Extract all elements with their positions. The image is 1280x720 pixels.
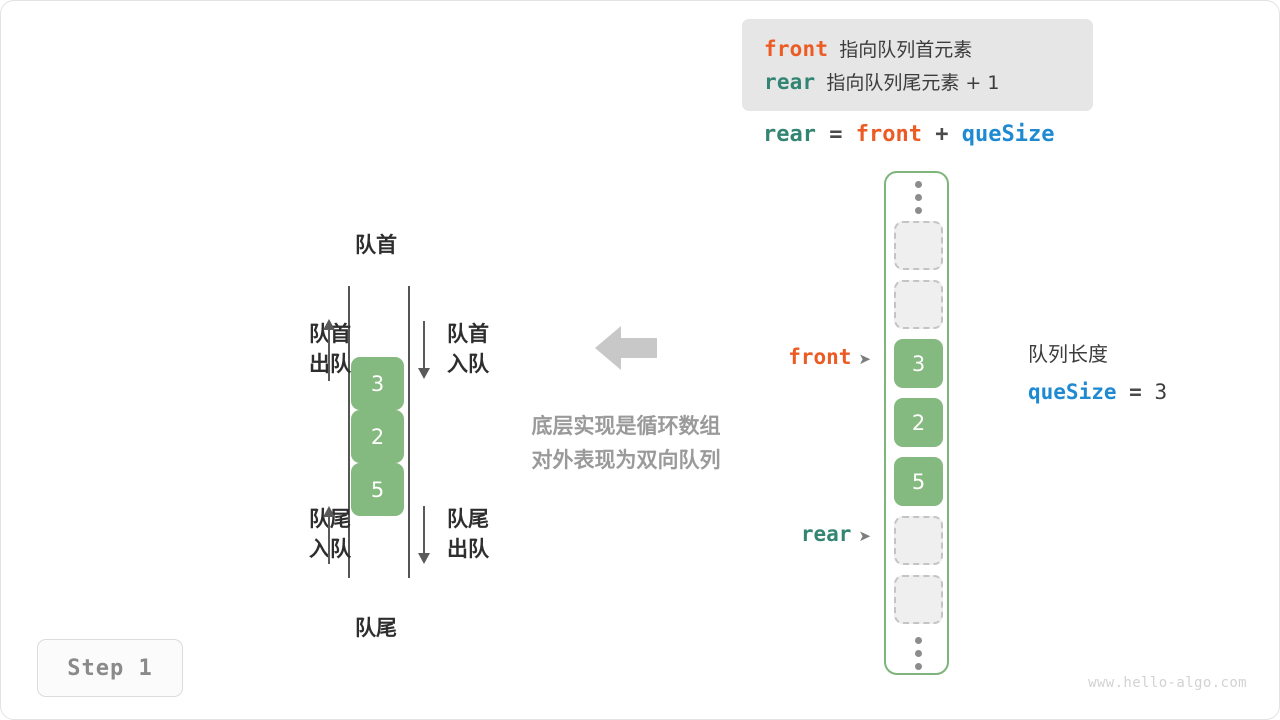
queue-size-note: 队列长度 queSize = 3 [1028, 339, 1167, 409]
pointer-legend-box: front指向队列首元素 rear指向队列尾元素 + 1 [742, 19, 1093, 111]
op-label-head-push: 队首 入队 [447, 319, 567, 379]
array-cell-empty-3 [894, 516, 943, 565]
deque-tail-label: 队尾 [301, 612, 451, 642]
quesize-variable: queSize [1028, 380, 1117, 404]
legend-text-rear: 指向队列尾元素 + 1 [826, 72, 999, 94]
legend-row-rear: rear指向队列尾元素 + 1 [764, 66, 1093, 99]
step-badge: Step 1 [37, 639, 183, 697]
op-label-head-push-line2: 入队 [447, 349, 567, 379]
arrow-head-push-icon [417, 321, 431, 379]
array-cell-middle: 2 [894, 398, 943, 447]
op-label-tail-pop-line2: 出队 [447, 534, 567, 564]
array-cell-front: 3 [894, 339, 943, 388]
rear-pointer-text: rear [801, 522, 852, 546]
formula-plus: + [935, 122, 948, 147]
transform-arrow-icon [595, 324, 657, 372]
rear-formula: rear = front + queSize [763, 119, 1054, 151]
array-ellipsis-bottom-icon [886, 629, 951, 677]
array-cell-empty-2 [894, 280, 943, 329]
array-cell-empty-1 [894, 221, 943, 270]
diagram-caption: 底层实现是循环数组 对外表现为双向队列 [481, 409, 771, 477]
op-label-tail-pop: 队尾 出队 [447, 504, 567, 564]
op-label-tail-pop-line1: 队尾 [447, 504, 567, 534]
deque-cell-head: 3 [351, 357, 404, 410]
deque-head-label: 队首 [301, 229, 451, 259]
deque-cell-tail: 5 [351, 463, 404, 516]
op-label-head-push-line1: 队首 [447, 319, 567, 349]
front-pointer-label: front➤ [661, 342, 871, 372]
front-pointer-arrow-icon: ➤ [858, 350, 871, 368]
step-badge-label: Step 1 [67, 656, 152, 681]
formula-equals: = [829, 122, 842, 147]
caption-line-2: 对外表现为双向队列 [481, 443, 771, 477]
diagram-canvas: front指向队列首元素 rear指向队列尾元素 + 1 rear = fron… [0, 0, 1280, 720]
formula-front-term: front [856, 122, 922, 147]
quesize-value: 3 [1154, 380, 1167, 404]
deque-rail-right [408, 286, 410, 578]
legend-text-front: 指向队列首元素 [839, 39, 972, 61]
array-cell-empty-4 [894, 575, 943, 624]
caption-line-1: 底层实现是循环数组 [481, 409, 771, 443]
formula-lhs: rear [763, 122, 816, 147]
front-pointer-text: front [788, 345, 851, 369]
legend-row-front: front指向队列首元素 [764, 33, 1093, 66]
quesize-equals: = [1129, 380, 1142, 404]
legend-key-front: front [764, 37, 828, 61]
array-ellipsis-top-icon [886, 173, 951, 221]
circular-array-container: 3 2 5 [884, 171, 949, 675]
rear-pointer-arrow-icon: ➤ [858, 527, 871, 545]
legend-key-rear: rear [764, 70, 815, 94]
watermark: www.hello-algo.com [1061, 675, 1247, 691]
arrow-head-pop-icon [322, 319, 336, 381]
deque-cell-middle: 2 [351, 410, 404, 463]
arrow-tail-push-icon [322, 506, 336, 564]
arrow-tail-pop-icon [417, 506, 431, 564]
rear-pointer-label: rear➤ [661, 519, 871, 549]
formula-quesize-term: queSize [962, 122, 1055, 147]
queue-size-title: 队列长度 [1028, 339, 1167, 369]
array-cell-tail: 5 [894, 457, 943, 506]
